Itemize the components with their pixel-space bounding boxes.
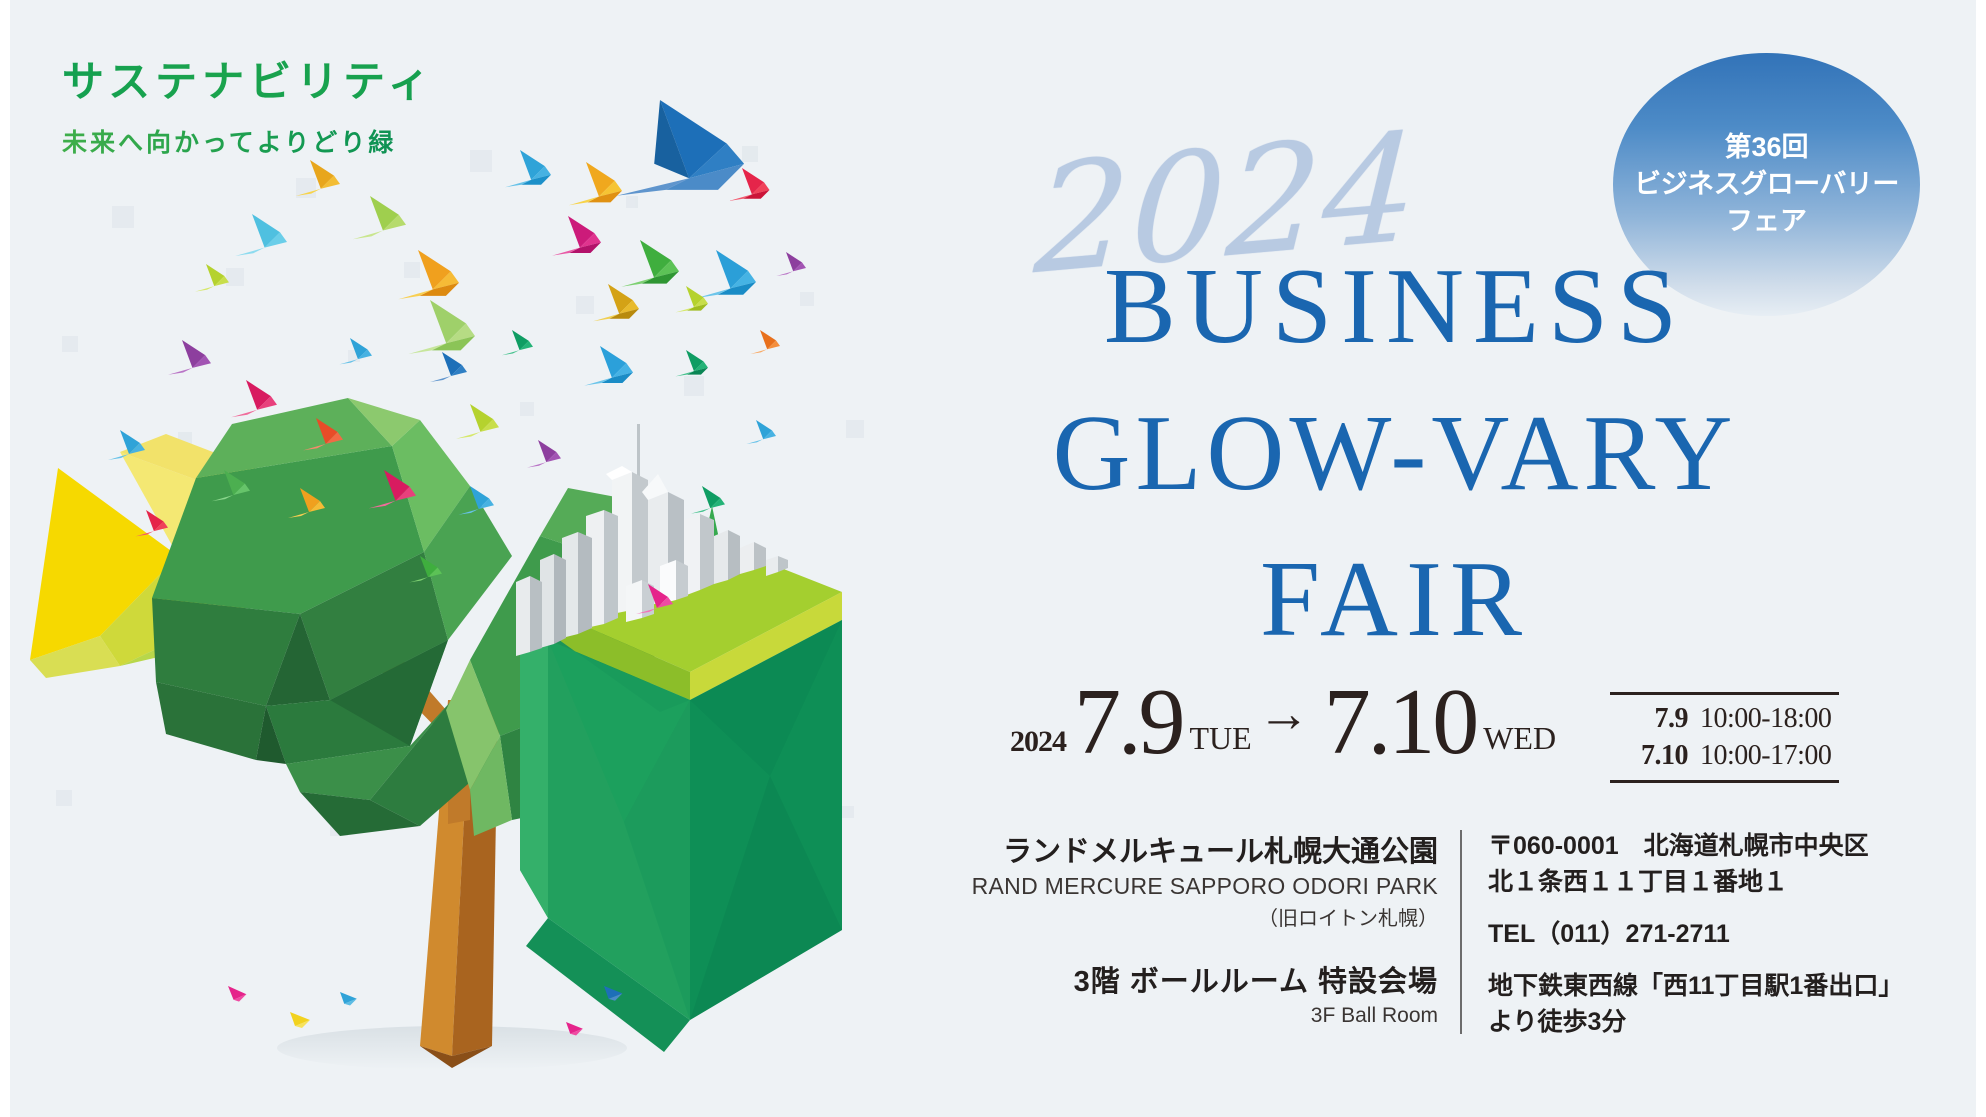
hours-row: 7.10 10:00-17:00 — [1622, 737, 1831, 774]
low-poly-tree-illustration — [0, 0, 1000, 1117]
date-arrow-icon: → — [1258, 689, 1310, 767]
date-start-day: 7.9 — [1074, 678, 1183, 767]
address-line-1: 〒060-0001 北海道札幌市中央区 — [1488, 828, 1903, 864]
tagline-main: サステナビリティ — [62, 48, 435, 109]
venue-name-jp: ランドメルキュール札幌大通公園 — [900, 828, 1438, 870]
venue-hall-jp: 3階 ボールルーム 特設会場 — [900, 958, 1438, 1000]
access-line-2: より徒歩3分 — [1488, 1004, 1903, 1040]
tagline-sub: 未来へ向かってよりどり緑 — [62, 123, 435, 159]
access-line-1: 地下鉄東西線「西11丁目駅1番出口」 — [1488, 968, 1903, 1004]
right-margin — [1976, 0, 1986, 1117]
hours-time: 10:00-17:00 — [1700, 737, 1831, 774]
hours-row: 7.9 10:00-18:00 — [1622, 700, 1831, 737]
date-end-day: 7.10 — [1324, 678, 1477, 767]
left-margin — [0, 0, 10, 1117]
left-green-canopy — [152, 398, 512, 836]
date-end-dow: WED — [1483, 720, 1556, 767]
title-line-business: BUSINESS — [1020, 245, 1770, 369]
venue-former-name: （旧ロイトン札幌） — [900, 902, 1438, 931]
hours-day: 7.10 — [1622, 737, 1688, 774]
sustainability-tagline: サステナビリティ 未来へ向かってよりどり緑 — [62, 48, 435, 159]
poster-canvas: サステナビリティ 未来へ向かってよりどり緑 第36回 ビジネスグローバリー フェ… — [0, 0, 1986, 1117]
venue-hall-en: 3F Ball Room — [900, 1004, 1438, 1028]
venue-name-column: ランドメルキュール札幌大通公園 RAND MERCURE SAPPORO ODO… — [900, 828, 1460, 1040]
venue-name-en: RAND MERCURE SAPPORO ODORI PARK — [900, 873, 1438, 900]
title-line-fair: FAIR — [1020, 538, 1770, 662]
event-date-range: 2024 7.9 TUE → 7.10 WED — [1010, 678, 1556, 767]
venue-telephone: TEL（011）271-2711 — [1488, 916, 1903, 952]
badge-edition-number: 第36回 — [1724, 129, 1808, 166]
date-start-dow: TUE — [1190, 720, 1252, 767]
hours-day: 7.9 — [1622, 700, 1688, 737]
title-line-glow-vary: GLOW-VARY — [1020, 392, 1770, 516]
venue-info: ランドメルキュール札幌大通公園 RAND MERCURE SAPPORO ODO… — [900, 828, 1920, 1040]
opening-hours-box: 7.9 10:00-18:00 7.10 10:00-17:00 — [1610, 692, 1839, 783]
address-line-2: 北１条西１１丁目１番地１ — [1488, 864, 1903, 900]
hours-time: 10:00-18:00 — [1700, 700, 1831, 737]
venue-address-column: 〒060-0001 北海道札幌市中央区 北１条西１１丁目１番地１ TEL（011… — [1462, 828, 1903, 1040]
badge-fair-name: ビジネスグローバリー — [1634, 166, 1899, 203]
badge-fair-suffix: フェア — [1726, 203, 1807, 240]
date-year: 2024 — [1010, 725, 1066, 767]
